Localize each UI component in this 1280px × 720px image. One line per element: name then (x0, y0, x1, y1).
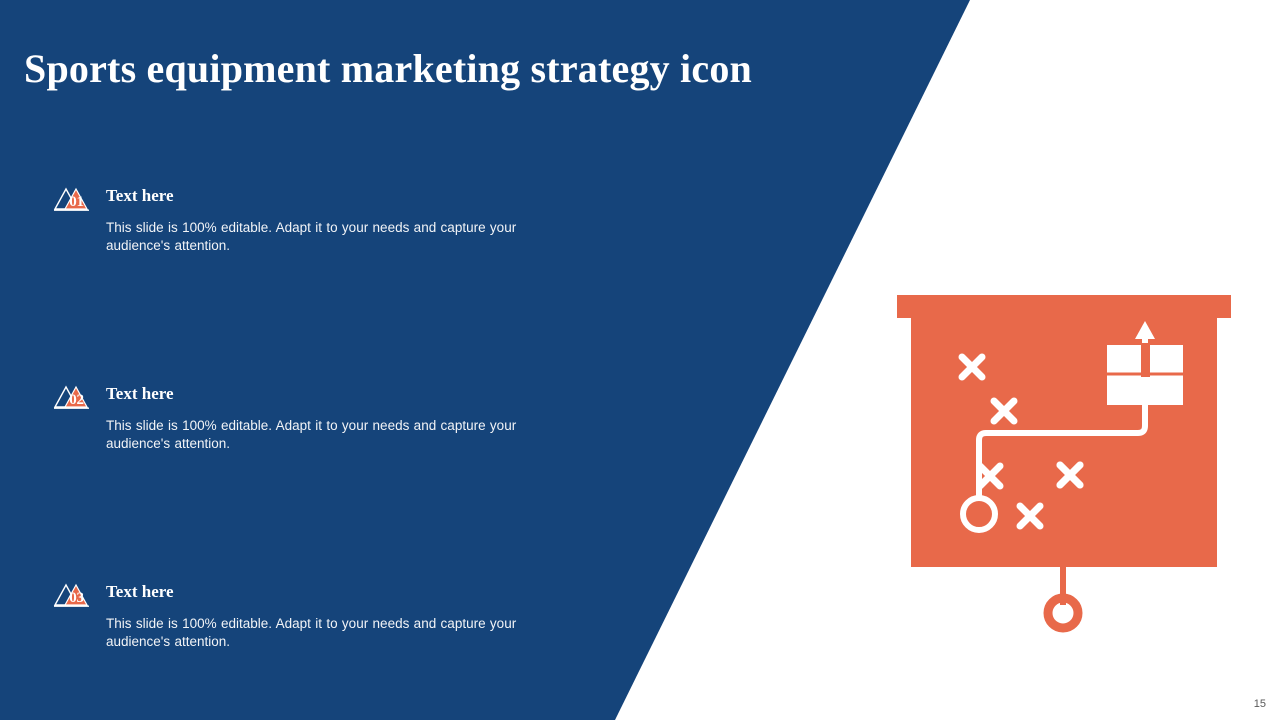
list-item-body: This slide is 100% editable. Adapt it to… (106, 219, 549, 255)
board-bottom-rail (911, 547, 1217, 567)
list-item-title: Text here (106, 582, 174, 602)
page-title: Sports equipment marketing strategy icon (24, 44, 904, 94)
list-item-header: 01 Text here (52, 186, 572, 212)
list-item[interactable]: 01 Text here This slide is 100% editable… (52, 186, 572, 255)
list-item[interactable]: 02 Text here This slide is 100% editable… (52, 384, 572, 453)
pull-ring (1048, 598, 1078, 628)
list-item-title: Text here (106, 186, 174, 206)
sports-strategy-board-icon (880, 285, 1250, 645)
list-item-title: Text here (106, 384, 174, 404)
list-item-number: 02 (52, 384, 92, 412)
package-box-icon (1107, 343, 1183, 405)
list-item-number: 03 (52, 582, 92, 610)
list-item[interactable]: 03 Text here This slide is 100% editable… (52, 582, 572, 651)
list-item-number: 01 (52, 186, 92, 214)
page-number: 15 (1254, 698, 1266, 710)
list-item-body: This slide is 100% editable. Adapt it to… (106, 417, 549, 453)
slide: Sports equipment marketing strategy icon… (0, 0, 1280, 720)
board-top-rail (897, 295, 1231, 318)
list-item-body: This slide is 100% editable. Adapt it to… (106, 615, 549, 651)
list-item-header: 03 Text here (52, 582, 572, 608)
list-item-header: 02 Text here (52, 384, 572, 410)
